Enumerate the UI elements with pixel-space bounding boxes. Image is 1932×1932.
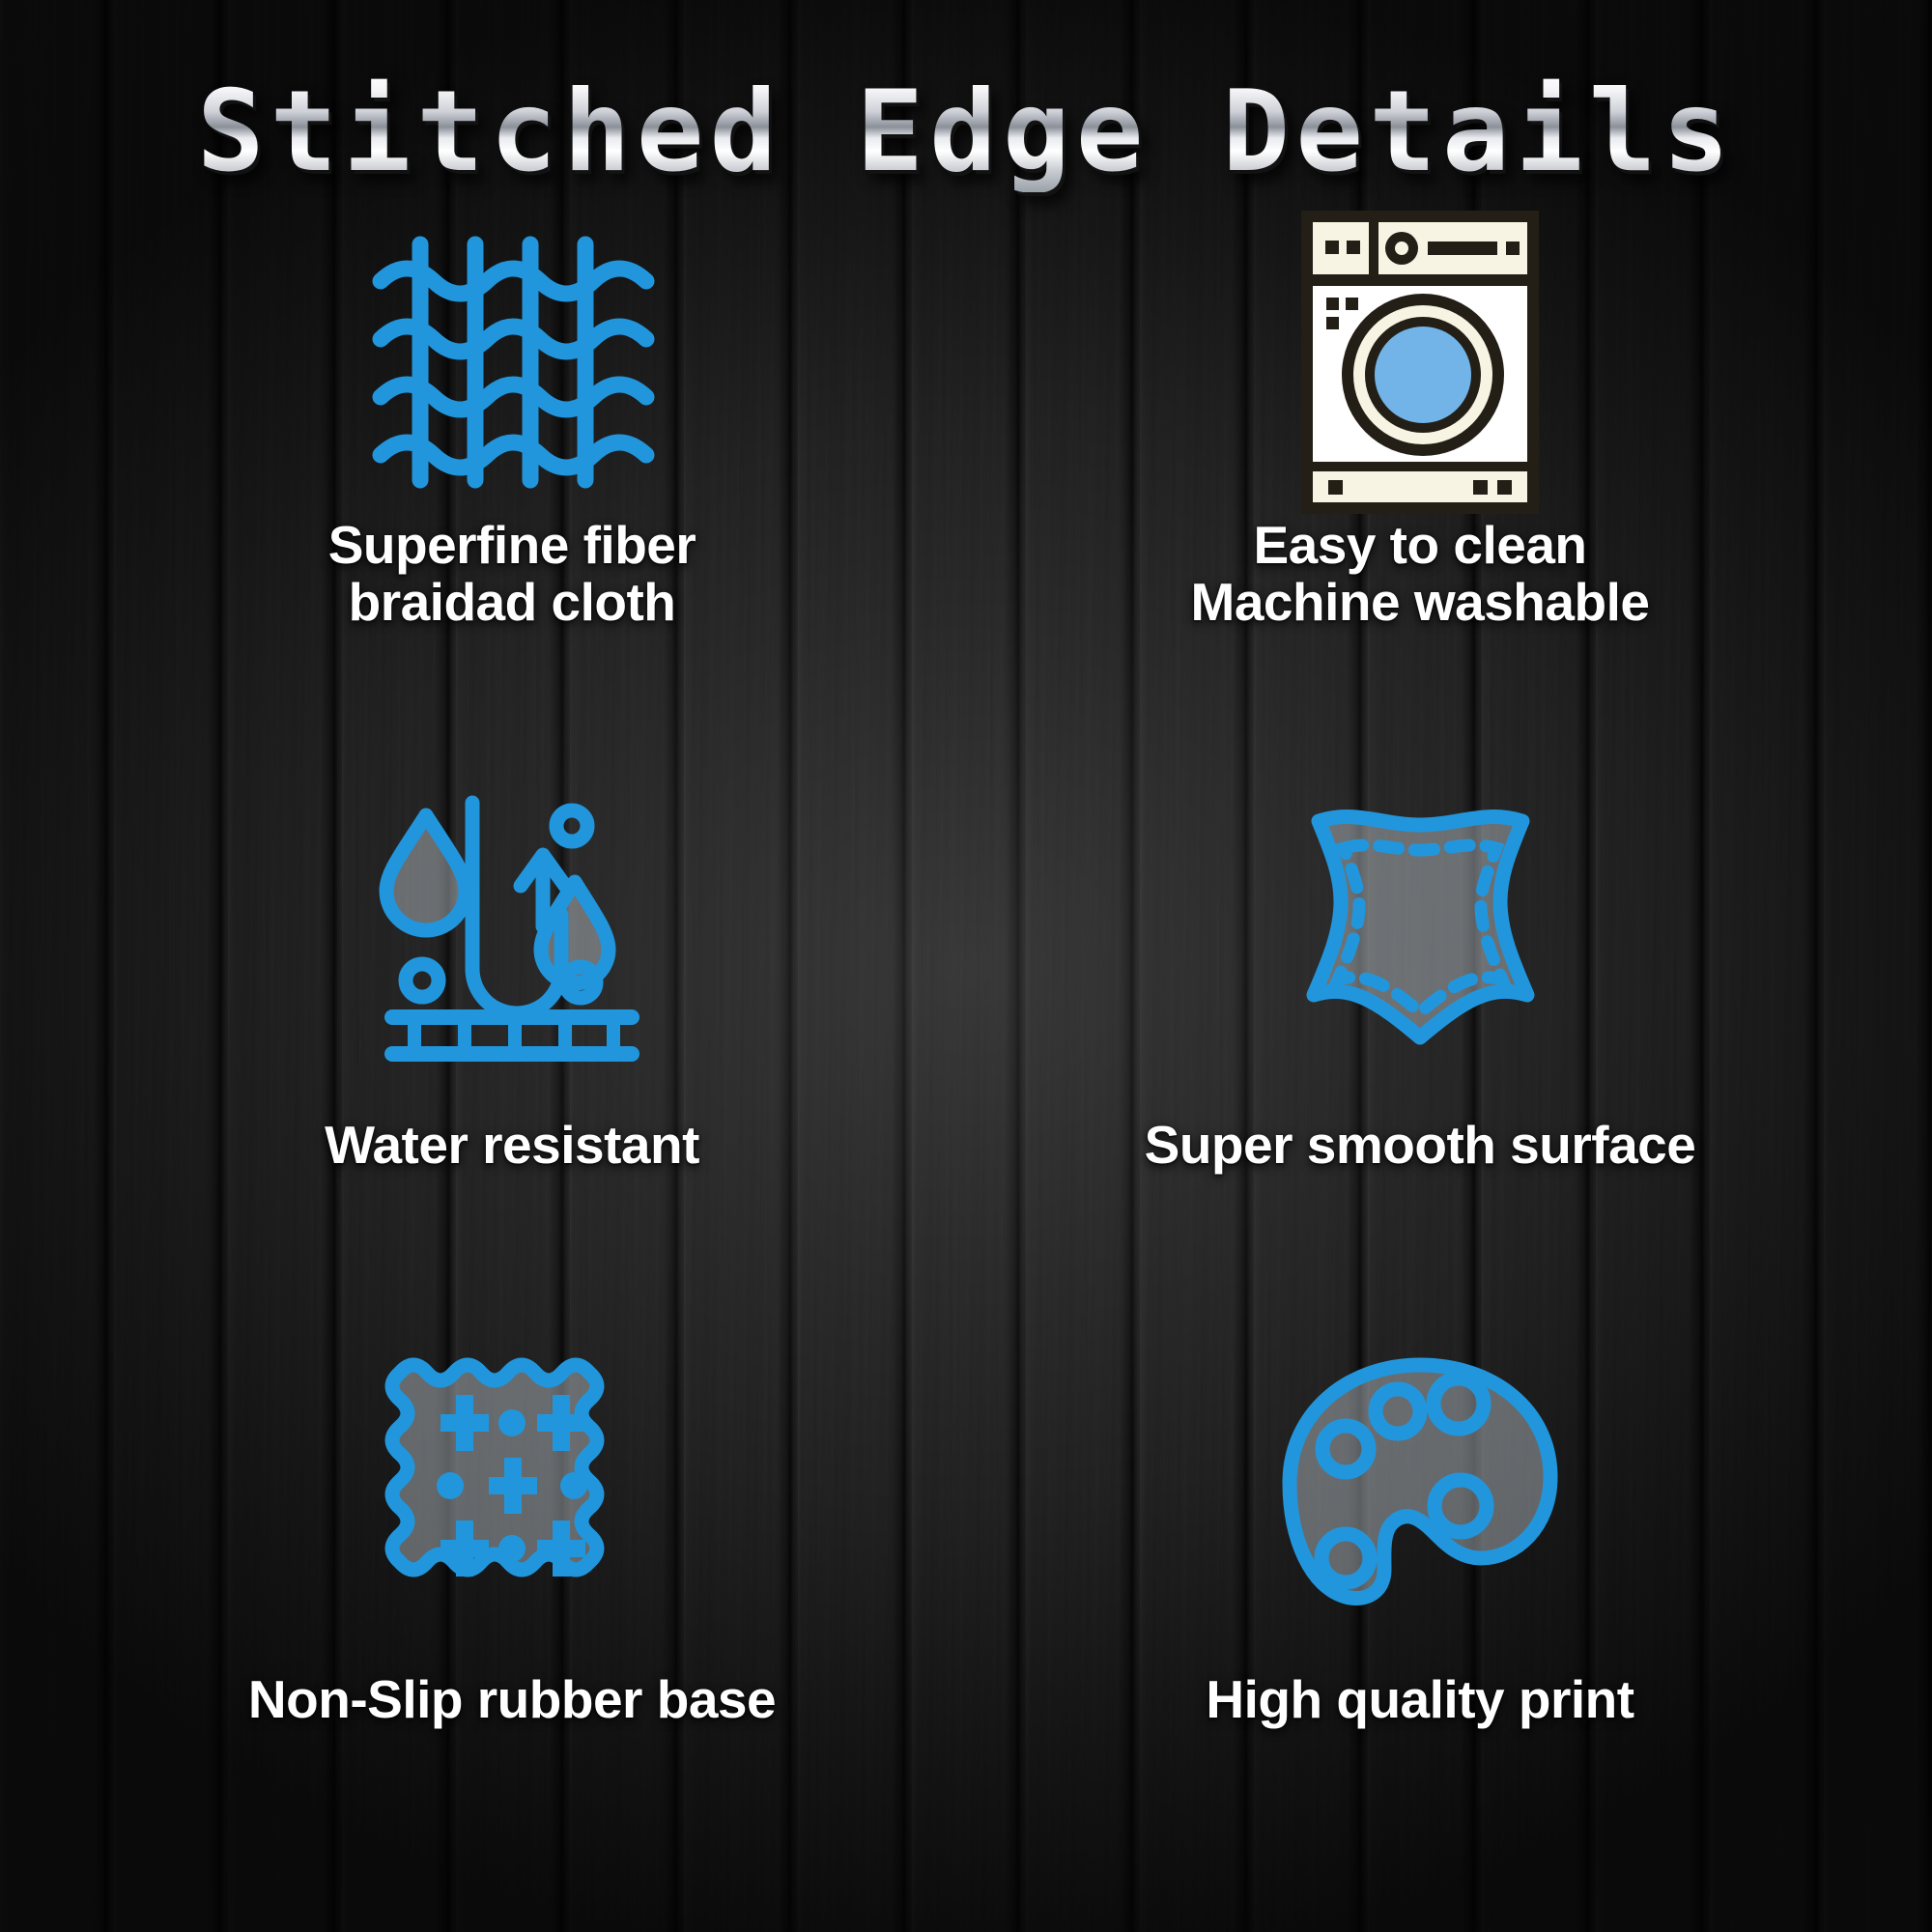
page-title: Stitched Edge Details (197, 71, 1736, 192)
feature-item-machine-washable: Easy to clean Machine washable (966, 217, 1874, 771)
feature-item-smooth-surface: Super smooth surface (966, 771, 1874, 1324)
feature-item-water-resistant: Water resistant (58, 771, 966, 1324)
title-area: Stitched Edge Details (0, 71, 1932, 192)
woven-fabric-icon (367, 217, 657, 507)
feature-grid: Superfine fiber braidad cloth (58, 217, 1874, 1879)
feature-label: High quality print (1206, 1671, 1634, 1728)
paint-palette-icon (1282, 1325, 1558, 1644)
feature-label: Easy to clean Machine washable (1191, 517, 1650, 632)
feature-label: Superfine fiber braidad cloth (328, 517, 696, 632)
feature-label: Water resistant (325, 1117, 699, 1174)
leather-hide-icon (1297, 771, 1544, 1090)
product-feature-infographic: Stitched Edge Details (0, 0, 1932, 1932)
washing-machine-icon (1299, 217, 1541, 507)
feature-item-high-quality-print: High quality print (966, 1325, 1874, 1879)
feature-label: Super smooth surface (1145, 1117, 1696, 1174)
water-resistant-icon (381, 771, 643, 1090)
feature-label: Non-Slip rubber base (248, 1671, 776, 1728)
feature-item-superfine-fiber: Superfine fiber braidad cloth (58, 217, 966, 771)
non-slip-base-icon (381, 1325, 643, 1644)
feature-item-non-slip-base: Non-Slip rubber base (58, 1325, 966, 1879)
